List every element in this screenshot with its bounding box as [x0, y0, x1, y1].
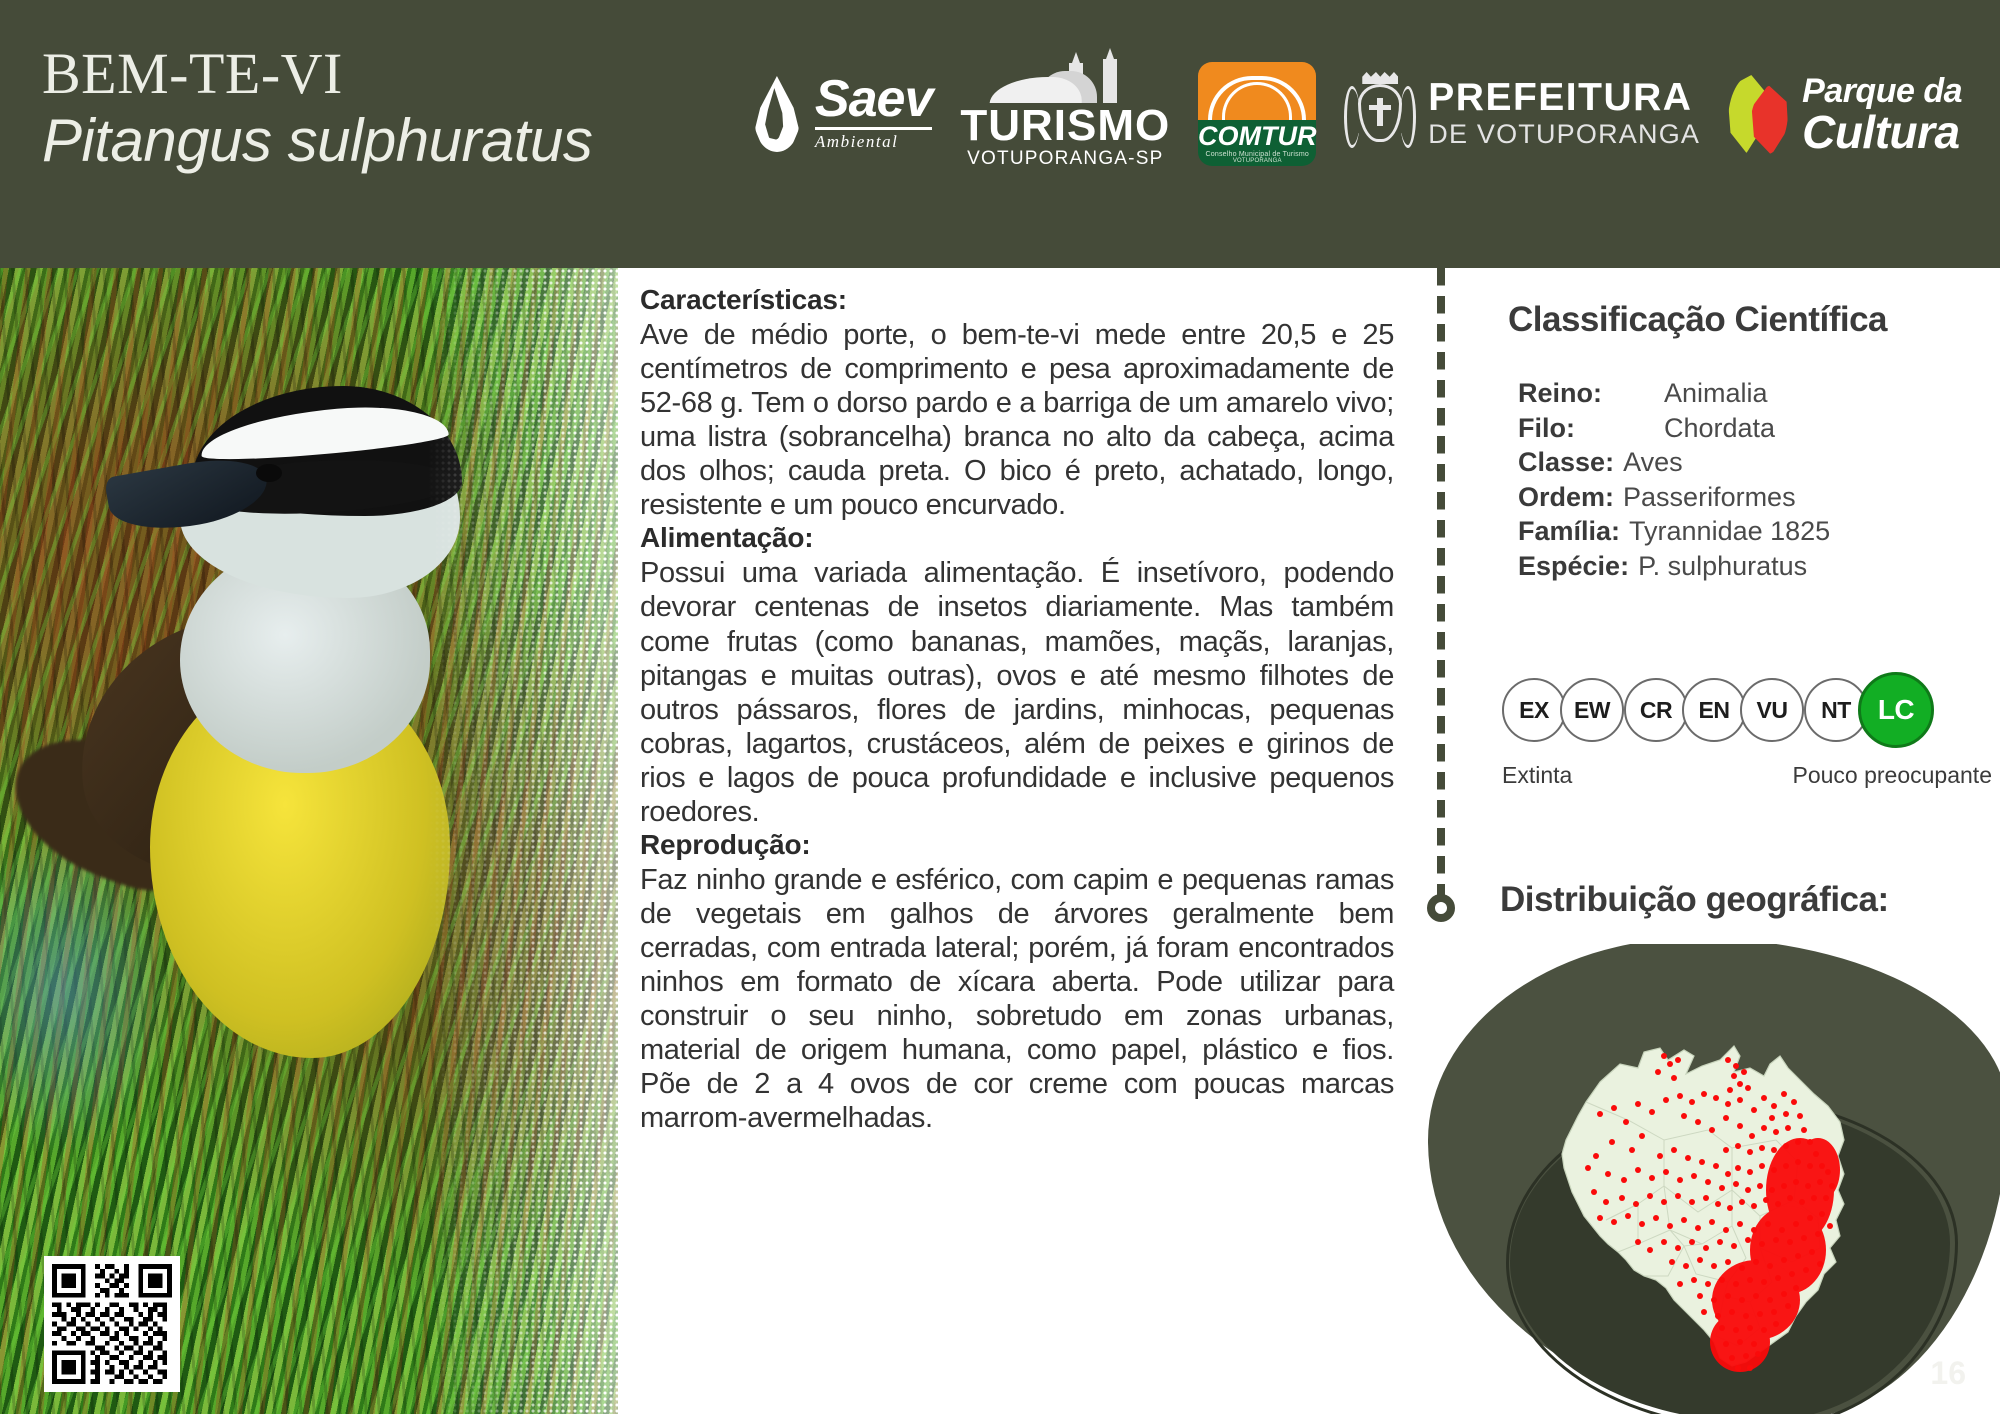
page-title: BEM-TE-VI — [42, 44, 592, 105]
classification-value: Aves — [1623, 445, 1683, 480]
classification-key: Reino: — [1518, 376, 1646, 411]
status-label-least-concern: Pouco preocupante — [1793, 762, 1993, 789]
vertical-dashed-divider — [1437, 268, 1445, 896]
section-caracteristicas: Características: Ave de médio porte, o b… — [640, 284, 1394, 522]
church-pavilion-icon — [991, 58, 1139, 103]
classification-row: Classe: Aves — [1518, 445, 2000, 480]
status-badge-lc[interactable]: LC — [1858, 672, 1934, 748]
conservation-scale-labels: Extinta Pouco preocupante — [1502, 762, 2000, 789]
section-body: Ave de médio porte, o bem-te-vi mede ent… — [640, 318, 1394, 522]
classification-value: Chordata — [1664, 411, 1775, 446]
scientific-name-title: Pitangus sulphuratus — [42, 107, 592, 174]
parque-wordmark-line1: Parque da — [1802, 74, 1962, 108]
prefeitura-logo: PREFEITURA DE VOTUPORANGA — [1344, 58, 1700, 170]
section-body: Faz ninho grande e esférico, com capim e… — [640, 863, 1394, 1136]
classification-value: Passeriformes — [1623, 480, 1796, 515]
classification-key: Ordem: — [1518, 480, 1614, 515]
section-heading: Alimentação: — [640, 522, 1394, 554]
divider-endpoint-dot — [1427, 894, 1455, 922]
description-column: Características: Ave de médio porte, o b… — [640, 284, 1394, 1404]
classification-row: Ordem: Passeriformes — [1518, 480, 2000, 515]
classification-value: P. sulphuratus — [1638, 549, 1807, 584]
section-reproducao: Reprodução: Faz ninho grande e esférico,… — [640, 829, 1394, 1136]
status-badge-en[interactable]: EN — [1682, 678, 1746, 742]
species-photo — [0, 268, 618, 1414]
classification-panel: Classificação Científica Reino: Animalia… — [1480, 300, 2000, 583]
prefeitura-city-label: DE VOTUPORANGA — [1428, 120, 1700, 150]
classification-row: Reino: Animalia — [1518, 376, 2000, 411]
classification-list: Reino: Animalia Filo: Chordata Classe: A… — [1518, 376, 2000, 583]
saev-tagline: Ambiental — [815, 132, 898, 152]
classification-row: Espécie: P. sulphuratus — [1518, 549, 2000, 584]
title-block: BEM-TE-VI Pitangus sulphuratus — [42, 44, 592, 174]
saev-logo: Saev Ambiental — [751, 58, 932, 170]
saev-rule — [815, 127, 932, 130]
comtur-wordmark: COMTUR — [1198, 123, 1316, 150]
conservation-status-scale: EX EW CR EN VU NT LC — [1502, 672, 1928, 748]
classification-value: Tyrannidae 1825 — [1629, 514, 1830, 549]
water-drop-icon — [751, 74, 805, 154]
qr-code-icon — [52, 1264, 172, 1384]
logo-strip: Saev Ambiental TURISMO VOTUPORANGA-SP — [751, 58, 1962, 170]
section-heading: Características: — [640, 284, 1394, 316]
leaf-icon — [1728, 69, 1790, 159]
comtur-city-label: VOTUPORANGA — [1233, 158, 1282, 164]
page-header: BEM-TE-VI Pitangus sulphuratus Saev Ambi… — [0, 0, 2000, 268]
status-badge-vu[interactable]: VU — [1740, 678, 1804, 742]
qr-code[interactable] — [44, 1256, 180, 1392]
classification-title: Classificação Científica — [1508, 300, 2000, 340]
classification-key: Filo: — [1518, 411, 1646, 446]
parque-wordmark-line2: Cultura — [1802, 109, 1962, 155]
comtur-logo: COMTUR Conselho Municipal de Turismo VOT… — [1198, 62, 1316, 166]
classification-row: Filo: Chordata — [1518, 411, 2000, 446]
distribution-title: Distribuição geográfica: — [1500, 880, 1889, 920]
classification-value: Animalia — [1664, 376, 1768, 411]
distribution-map: 16 — [1418, 944, 2000, 1414]
page-number: 16 — [1930, 1355, 1966, 1392]
section-heading: Reprodução: — [640, 829, 1394, 861]
halftone-dot-edge — [428, 268, 618, 1414]
section-body: Possui uma variada alimentação. É insetí… — [640, 556, 1394, 829]
turismo-city-label: VOTUPORANGA-SP — [967, 148, 1163, 170]
parque-cultura-logo: Parque da Cultura — [1728, 58, 1962, 170]
status-badge-cr[interactable]: CR — [1624, 678, 1688, 742]
comtur-tagline: Conselho Municipal de Turismo — [1206, 151, 1309, 158]
comtur-pavilion-icon — [1198, 62, 1316, 120]
species-fact-sheet: BEM-TE-VI Pitangus sulphuratus Saev Ambi… — [0, 0, 2000, 1414]
classification-key: Espécie: — [1518, 549, 1629, 584]
status-label-extinct: Extinta — [1502, 762, 1572, 789]
brazil-map-icon — [1488, 990, 1908, 1390]
section-alimentacao: Alimentação: Possui uma variada alimenta… — [640, 522, 1394, 829]
classification-key: Classe: — [1518, 445, 1614, 480]
status-badge-ex[interactable]: EX — [1502, 678, 1566, 742]
classification-row: Família: Tyrannidae 1825 — [1518, 514, 2000, 549]
status-badge-ew[interactable]: EW — [1560, 678, 1624, 742]
turismo-logo: TURISMO VOTUPORANGA-SP — [960, 58, 1170, 170]
coat-of-arms-icon — [1344, 70, 1416, 158]
prefeitura-wordmark: PREFEITURA — [1428, 78, 1700, 117]
saev-wordmark: Saev — [815, 76, 932, 124]
turismo-wordmark: TURISMO — [960, 105, 1170, 147]
classification-key: Família: — [1518, 514, 1620, 549]
